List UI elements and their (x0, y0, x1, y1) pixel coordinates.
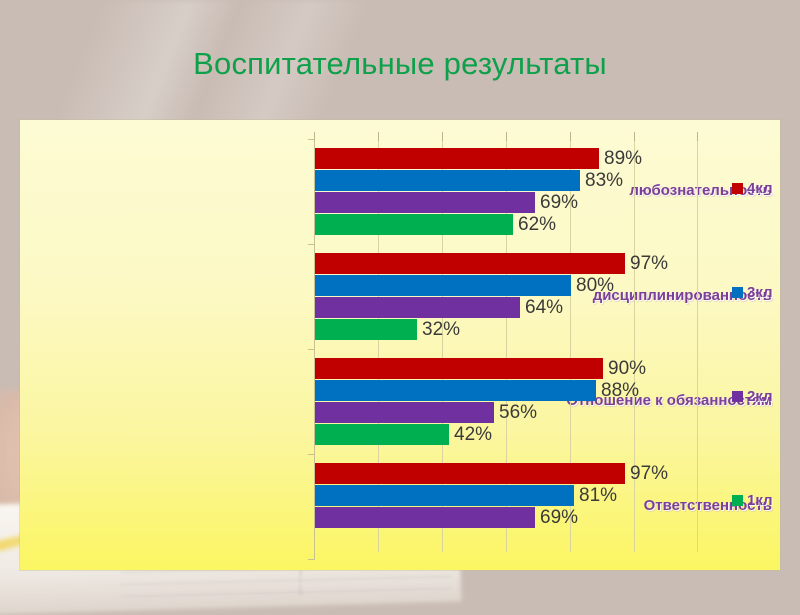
bar-4кл-3[interactable] (315, 358, 603, 379)
bar-value-label: 64% (520, 297, 563, 318)
bar-3кл-3[interactable] (315, 380, 596, 401)
bar-3кл-2[interactable] (315, 275, 571, 296)
legend-label: 2кл (747, 388, 773, 405)
bar-row: 32% (315, 319, 724, 341)
bar-row: 80% (315, 275, 724, 297)
plot-area: 89%83%69%62%97%80%64%32%90%88%56%42%97%8… (314, 132, 724, 560)
bar-group: 97%81%69% (315, 463, 724, 551)
chart-panel: любознательностьдисциплинированностьОтно… (20, 120, 780, 570)
bar-2кл-3[interactable] (315, 402, 494, 423)
bar-1кл-2[interactable] (315, 319, 417, 340)
legend-swatch-icon (732, 391, 743, 402)
legend-label: 4кл (747, 180, 773, 197)
bar-value-label: 56% (494, 402, 537, 423)
bar-value-label: 62% (513, 214, 556, 235)
bar-row: 42% (315, 424, 724, 446)
bar-value-label: 97% (625, 463, 668, 484)
bar-3кл-1[interactable] (315, 170, 580, 191)
bar-row: 69% (315, 192, 724, 214)
bar-4кл-4[interactable] (315, 463, 625, 484)
bar-value-label: 83% (580, 170, 623, 191)
legend-item-2кл[interactable]: 2кл (732, 388, 773, 405)
legend-label: 3кл (747, 284, 773, 301)
bar-value-label: 97% (625, 253, 668, 274)
chart-legend: 4кл3кл2кл1кл (732, 180, 800, 550)
category-tick (308, 454, 315, 455)
bar-row: 88% (315, 380, 724, 402)
bar-row: 69% (315, 507, 724, 529)
bar-value-label: 32% (417, 319, 460, 340)
bar-4кл-1[interactable] (315, 148, 599, 169)
bar-row: 56% (315, 402, 724, 424)
bar-row: 97% (315, 463, 724, 485)
bar-value-label: 69% (535, 507, 578, 528)
bar-1кл-1[interactable] (315, 214, 513, 235)
bar-row: 64% (315, 297, 724, 319)
legend-item-4кл[interactable]: 4кл (732, 180, 773, 197)
bar-2кл-1[interactable] (315, 192, 535, 213)
bar-2кл-2[interactable] (315, 297, 520, 318)
bar-value-label: 69% (535, 192, 578, 213)
bar-value-label: 81% (574, 485, 617, 506)
bar-row: 89% (315, 148, 724, 170)
legend-item-3кл[interactable]: 3кл (732, 284, 773, 301)
legend-swatch-icon (732, 183, 743, 194)
category-tick (308, 349, 315, 350)
bar-2кл-4[interactable] (315, 507, 535, 528)
category-tick (308, 139, 315, 140)
category-tick (308, 244, 315, 245)
bar-group: 90%88%56%42% (315, 358, 724, 446)
legend-item-1кл[interactable]: 1кл (732, 492, 773, 509)
bar-row: 90% (315, 358, 724, 380)
bar-group: 97%80%64%32% (315, 253, 724, 341)
bar-value-label: 88% (596, 380, 639, 401)
bar-3кл-4[interactable] (315, 485, 574, 506)
axis-tick (506, 132, 507, 141)
bar-row: 97% (315, 253, 724, 275)
axis-tick (634, 132, 635, 141)
axis-tick (378, 132, 379, 141)
bar-value-label: 42% (449, 424, 492, 445)
axis-tick (697, 132, 698, 141)
bar-row: 81% (315, 485, 724, 507)
bar-value-label: 80% (571, 275, 614, 296)
legend-label: 1кл (747, 492, 773, 509)
legend-swatch-icon (732, 495, 743, 506)
bar-row: 62% (315, 214, 724, 236)
bar-value-label: 89% (599, 148, 642, 169)
axis-tick (570, 132, 571, 141)
bar-4кл-2[interactable] (315, 253, 625, 274)
category-tick (308, 559, 315, 560)
legend-swatch-icon (732, 287, 743, 298)
bar-value-label: 90% (603, 358, 646, 379)
bar-group: 89%83%69%62% (315, 148, 724, 236)
bar-row: 83% (315, 170, 724, 192)
axis-tick (442, 132, 443, 141)
bar-row (315, 529, 724, 551)
bar-1кл-3[interactable] (315, 424, 449, 445)
page-title: Воспитательные результаты (0, 46, 800, 82)
